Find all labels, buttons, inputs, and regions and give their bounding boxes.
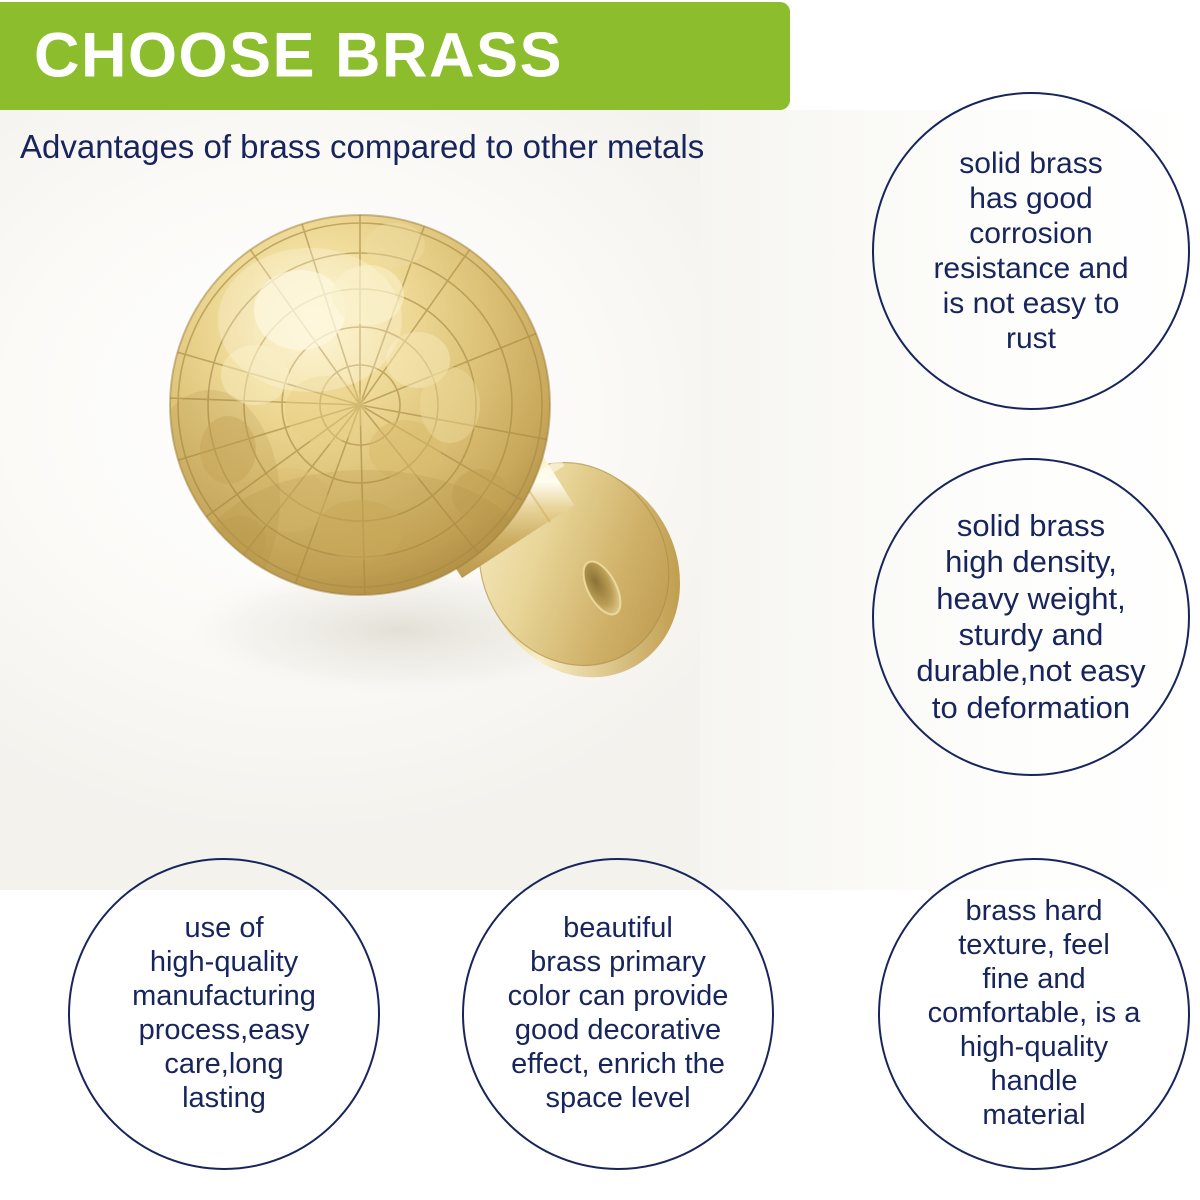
callout-bubble-texture: brass hard texture, feel fine and comfor… [878, 858, 1190, 1170]
callout-text-quality: use of high-quality manufacturing proces… [70, 912, 378, 1116]
callout-bubble-quality: use of high-quality manufacturing proces… [68, 858, 380, 1170]
callout-bubble-color: beautiful brass primary color can provid… [462, 858, 774, 1170]
callout-text-density: solid brass high density, heavy weight, … [874, 508, 1188, 726]
callout-text-color: beautiful brass primary color can provid… [464, 912, 772, 1116]
infographic-page: CHOOSE BRASS Advantages of brass compare… [0, 0, 1200, 1200]
header-banner: CHOOSE BRASS [0, 2, 790, 110]
banner-title: CHOOSE BRASS [34, 25, 563, 88]
product-image-brass-knob [150, 200, 730, 770]
callout-bubble-corrosion: solid brass has good corrosion resistanc… [872, 92, 1190, 410]
callout-bubble-density: solid brass high density, heavy weight, … [872, 458, 1190, 776]
page-subtitle: Advantages of brass compared to other me… [20, 128, 800, 166]
callout-text-corrosion: solid brass has good corrosion resistanc… [874, 146, 1188, 357]
callout-text-texture: brass hard texture, feel fine and comfor… [880, 895, 1188, 1132]
